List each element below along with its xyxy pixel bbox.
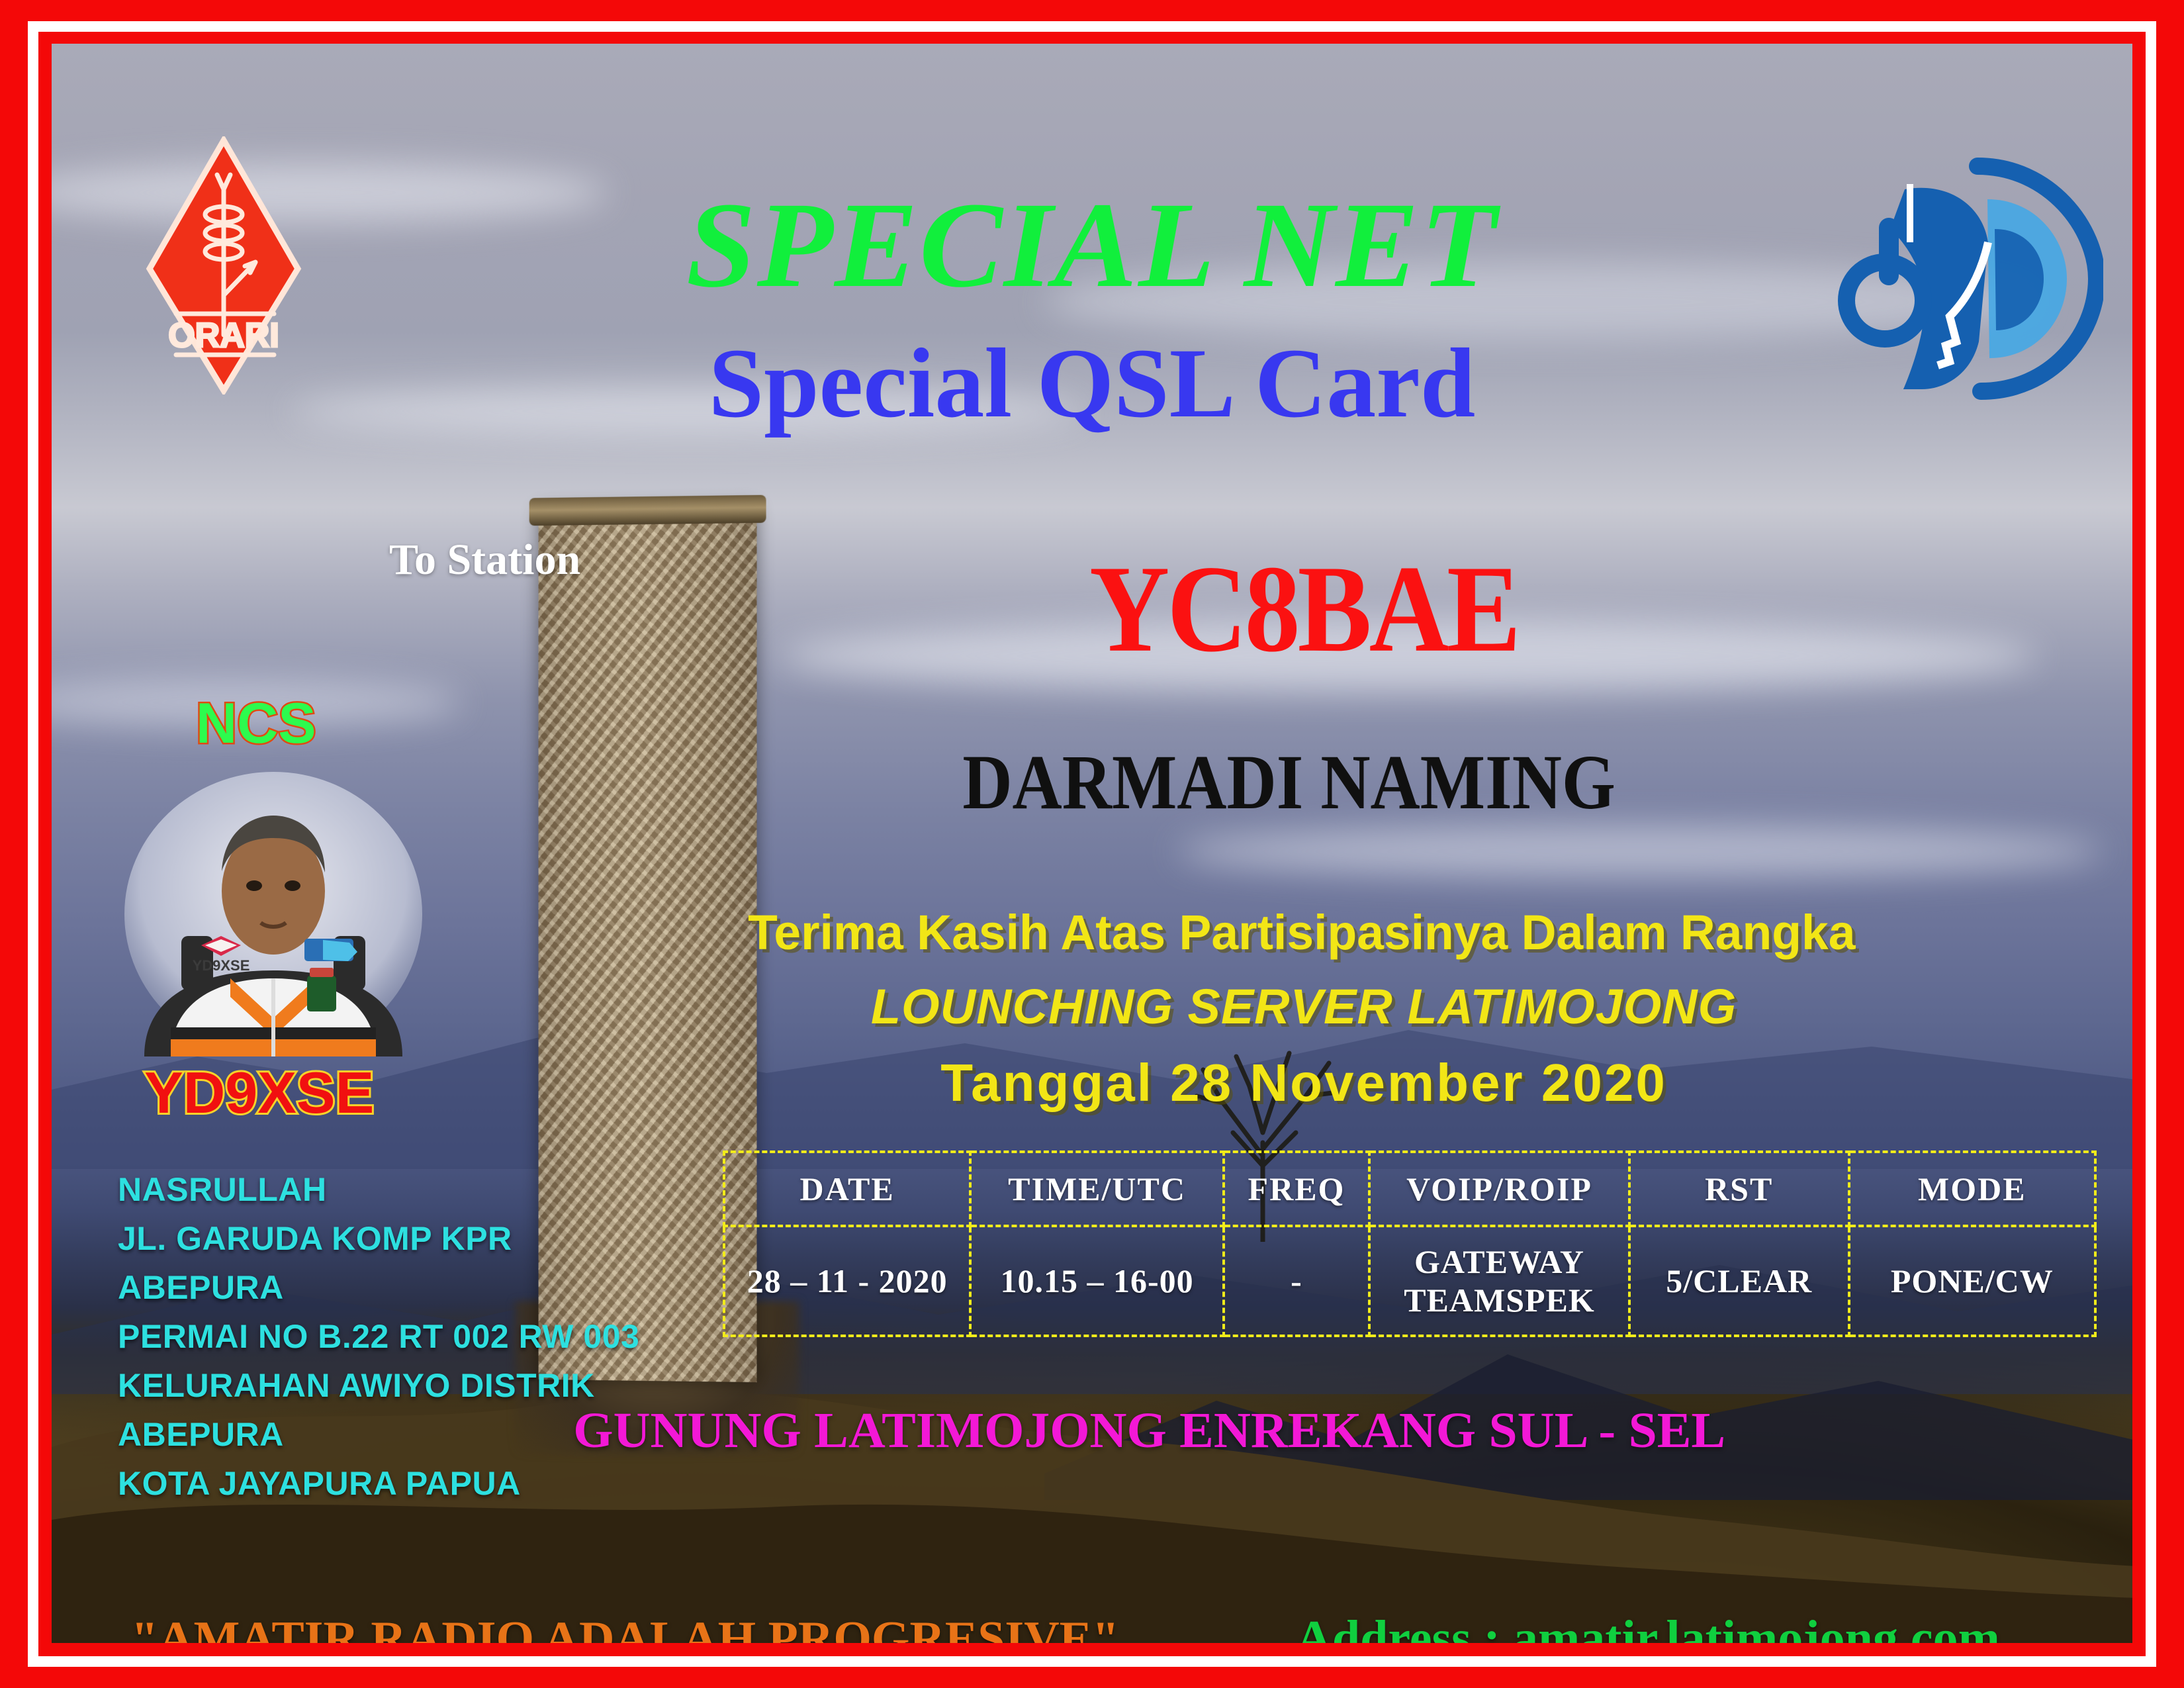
header-time: TIME/UTC (970, 1152, 1223, 1226)
address-line: NASRULLAH (118, 1165, 639, 1214)
table-header-row: DATE TIME/UTC FREQ VOIP/ROIP RST MODE (724, 1152, 2095, 1226)
header-voip: VOIP/ROIP (1369, 1152, 1629, 1226)
page-title: SPECIAL NET (52, 184, 2132, 306)
header-mode: MODE (1849, 1152, 2095, 1226)
qsl-card: ORARI (0, 0, 2184, 1688)
motto-text: "AMATIR RADIO ADALAH PROGRESIVE" (131, 1611, 1119, 1643)
thanks-line: Terima Kasih Atas Partisipasinya Dalam R… (62, 904, 2122, 961)
cell-time: 10.15 – 16-00 (970, 1226, 1223, 1336)
event-title: LOUNCHING SERVER LATIMOJONG (52, 978, 2132, 1035)
operator-name: DARMADI NAMING (124, 743, 2060, 821)
header-freq: FREQ (1224, 1152, 1369, 1226)
cell-date: 28 – 11 - 2020 (724, 1226, 970, 1336)
event-date: Tanggal 28 November 2020 (52, 1053, 2132, 1113)
page-subtitle: Special QSL Card (52, 334, 2132, 433)
header-date: DATE (724, 1152, 970, 1226)
address-line: KOTA JAYAPURA PAPUA (118, 1459, 639, 1508)
address-line: ABEPURA (118, 1263, 639, 1312)
qso-log-table: DATE TIME/UTC FREQ VOIP/ROIP RST MODE 28… (723, 1150, 2097, 1337)
station-callsign: YC8BAE (52, 547, 2132, 671)
cloud-streak (1177, 825, 2103, 878)
location-line: GUNUNG LATIMOJONG ENREKANG SUL - SEL (52, 1402, 2132, 1460)
cell-voip: GATEWAY TEAMSPEK (1369, 1226, 1629, 1336)
header-rst: RST (1629, 1152, 1849, 1226)
website-address: Address : amatir.latimojong.com (1296, 1610, 2000, 1643)
address-line: PERMAI NO B.22 RT 002 RW 003 (118, 1312, 639, 1361)
mountain-photo-background: ORARI (52, 44, 2132, 1643)
address-line: JL. GARUDA KOMP KPR (118, 1214, 639, 1263)
cell-mode: PONE/CW (1849, 1226, 2095, 1336)
cell-rst: 5/CLEAR (1629, 1226, 1849, 1336)
table-row: 28 – 11 - 2020 10.15 – 16-00 - GATEWAY T… (724, 1226, 2095, 1336)
cell-freq: - (1224, 1226, 1369, 1336)
